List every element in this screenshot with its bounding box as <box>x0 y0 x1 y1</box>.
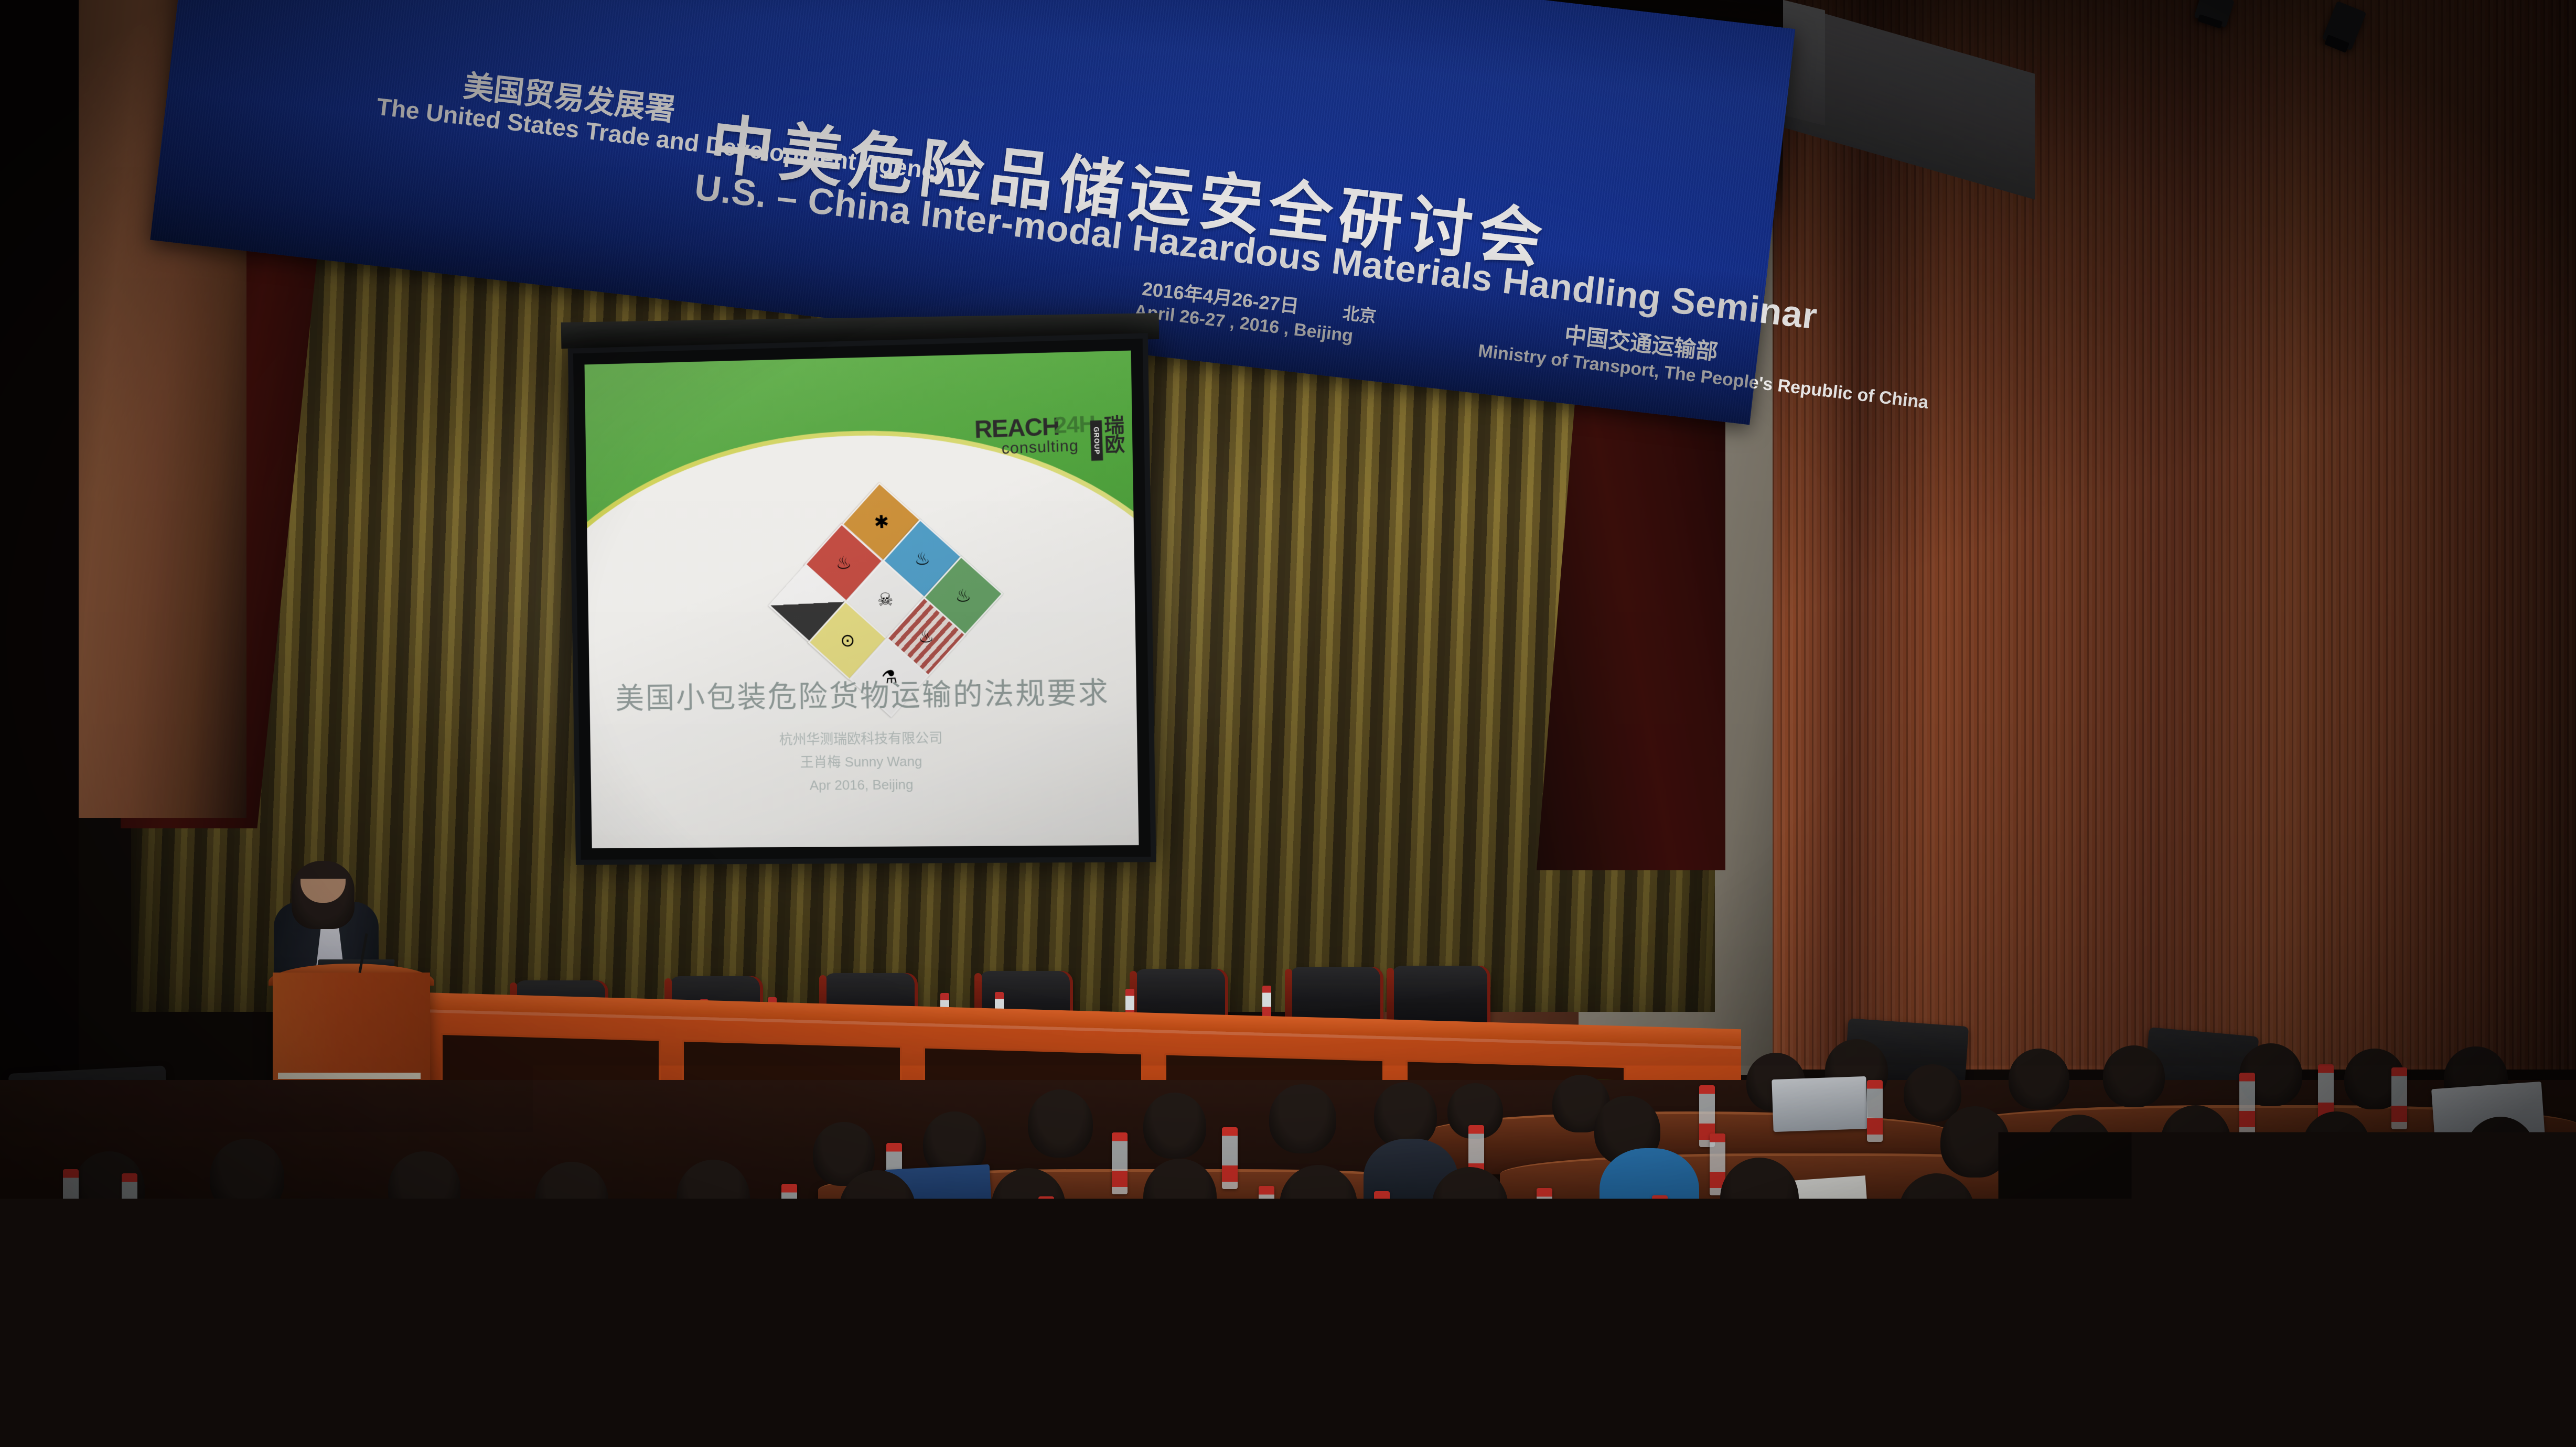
audience-water-bottle <box>1940 1286 1958 1359</box>
reach24h-logo: REACH 24H consulting GROUP 瑞欧 <box>974 409 1120 477</box>
audience-head <box>2213 1279 2311 1381</box>
audience-head <box>2271 1186 2350 1269</box>
projection-screen: REACH 24H consulting GROUP 瑞欧 ✱ ♨ ♨ ☠ ♨ … <box>568 333 1156 865</box>
audience-head <box>1904 1064 1961 1122</box>
presenter-hair <box>292 861 355 929</box>
audience-head <box>2098 1180 2176 1261</box>
audience-water-bottle <box>2239 1073 2255 1135</box>
audience-water-bottle <box>1867 1080 1883 1142</box>
audience-head <box>2465 1117 2536 1191</box>
audience-head <box>2103 1045 2165 1107</box>
audience-head <box>2045 1115 2112 1184</box>
audience-water-bottle <box>2391 1067 2407 1129</box>
logo-text-24h: 24H <box>1054 411 1096 439</box>
audience-water-bottle <box>294 1274 312 1347</box>
audience-head <box>1720 1158 1799 1239</box>
audience-head <box>677 1160 750 1236</box>
audience-head <box>535 1162 608 1238</box>
audience-head <box>1054 1254 1144 1348</box>
logo-text-consulting: consulting <box>1001 437 1079 458</box>
audience-head <box>991 1168 1066 1246</box>
audience-water-bottle <box>2203 1222 2220 1295</box>
audience-torso-cyan <box>430 1200 535 1262</box>
audience-head <box>2302 1111 2370 1183</box>
audience-water-bottle <box>991 1269 1009 1342</box>
audience-water-bottle <box>1112 1132 1128 1194</box>
logo-text-cn: 瑞欧 <box>1104 416 1126 456</box>
audience-head <box>1269 1084 1336 1153</box>
audience-water-bottle <box>1374 1191 1390 1253</box>
audience-head <box>325 1256 411 1346</box>
audience-water-bottle <box>2323 1358 2345 1447</box>
audience-water-bottle <box>63 1169 79 1231</box>
audience-head <box>677 1260 766 1354</box>
audience-head <box>2009 1049 2069 1109</box>
podium-trim-stripe <box>278 1073 421 1079</box>
audience-head <box>1940 1106 2010 1178</box>
audience-paper-cup <box>1489 1296 1517 1337</box>
audience-head <box>839 1170 916 1249</box>
audience-water-bottle <box>1537 1188 1552 1250</box>
audience-water-bottle <box>1416 1363 1437 1447</box>
audience-water-bottle <box>1343 1268 1360 1341</box>
audience-laptop <box>1772 1076 1867 1132</box>
audience-head <box>1280 1165 1357 1245</box>
audience-water-bottle <box>530 1284 548 1358</box>
audience-water-bottle <box>1259 1186 1274 1248</box>
audience-head <box>2161 1105 2231 1179</box>
audience-water-bottle <box>1038 1196 1054 1258</box>
audience-head <box>1143 1159 1217 1235</box>
audience-head <box>157 1251 245 1343</box>
banner-city-cn: 北京 <box>1341 300 1378 328</box>
audience-head <box>1028 1089 1093 1158</box>
audience-head <box>871 1264 963 1360</box>
audience-water-bottle <box>781 1184 797 1246</box>
slide-surface: REACH 24H consulting GROUP 瑞欧 ✱ ♨ ♨ ☠ ♨ … <box>584 351 1139 848</box>
audience-water-bottle <box>2307 1300 2325 1374</box>
audience-head <box>210 1139 284 1215</box>
slide-title-cn: 美国小包装危险货物运输的法规要求 <box>589 668 1137 718</box>
audience-water-bottle <box>220 1363 241 1447</box>
audience-head <box>1432 1167 1508 1247</box>
audience-desk <box>2224 1389 2576 1447</box>
audience-water-bottle <box>1951 1202 1969 1275</box>
audience-water-bottle <box>1222 1127 1238 1189</box>
left-dark-edge <box>0 0 79 1101</box>
audience-head <box>1143 1093 1206 1159</box>
audience-water-bottle <box>2491 1222 2509 1295</box>
audience-water-bottle <box>122 1173 137 1235</box>
slide-dateplace: Apr 2016, Beijing <box>591 771 1138 798</box>
audience-water-bottle <box>1537 1271 1554 1344</box>
audience-paper-cup <box>1736 1321 1761 1359</box>
hazmat-placard-cluster: ✱ ♨ ♨ ☠ ♨ ⊙ ♨ ⚗ <box>775 493 956 675</box>
logo-text-group: GROUP <box>1090 420 1103 461</box>
audience-water-bottle <box>31 1269 49 1342</box>
audience-water-bottle <box>892 1374 913 1447</box>
slide-subtitle-block: 杭州华测瑞欧科技有限公司 王肖梅 Sunny Wang Apr 2016, Be… <box>590 724 1138 798</box>
audience-water-bottle <box>1227 1265 1245 1338</box>
audience-water-bottle <box>540 1368 561 1447</box>
audience-name-card-featured: 李令遐 <box>51 1335 212 1428</box>
audience-name-card <box>964 1254 1060 1293</box>
audience-water-bottle <box>1898 1368 1919 1447</box>
right-wall-shadow <box>1773 0 2576 1070</box>
auditorium-photo: 中美危险品储运安全研讨会 U.S. – China Inter-modal Ha… <box>0 0 2576 1447</box>
